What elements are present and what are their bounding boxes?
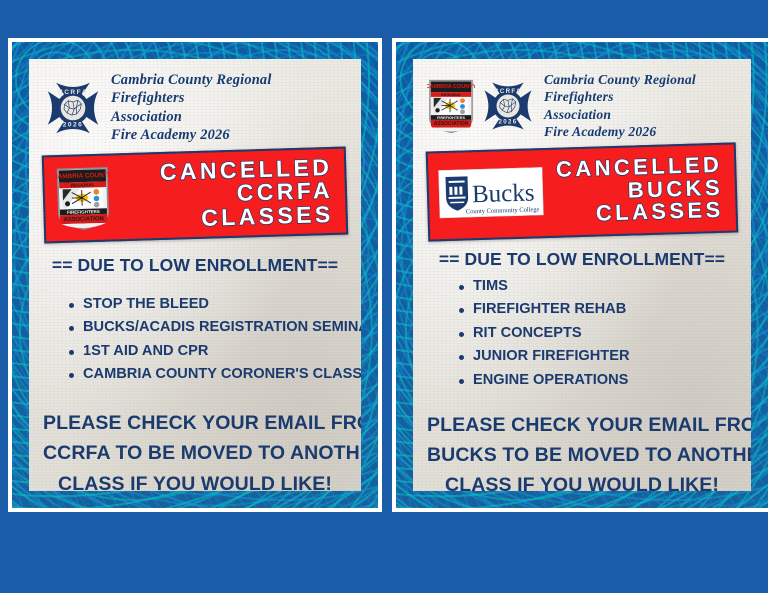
list-item: TIMS bbox=[459, 278, 737, 294]
poster-canvas: CCRFA 2026 Cambria County Regional Firef… bbox=[0, 0, 768, 593]
flyer-bucks: CAMBRIA COUNTY REGIONAL FIREFIGHTERS ASS… bbox=[392, 38, 768, 512]
closing-line-2: BUCKS TO BE MOVED TO ANOTHER bbox=[427, 440, 737, 470]
maltese-top-text: CCRFA bbox=[494, 88, 522, 95]
decorative-blue-paisley-border: CCRFA 2026 Cambria County Regional Firef… bbox=[12, 42, 378, 508]
cambria-county-regional-firefighters-patch: CAMBRIA COUNTY REGIONAL FIREFIGHTERS ASS… bbox=[427, 77, 475, 135]
maltese-top-text: CCRFA bbox=[58, 89, 88, 96]
patch-top-line-2: REGIONAL bbox=[441, 93, 462, 97]
ccrfa-maltese-cross-logo: CCRFA 2026 bbox=[480, 78, 536, 134]
patch-bottom-line-2: ASSOCIATION bbox=[434, 121, 469, 127]
header-logo-group-bucks: CAMBRIA COUNTY REGIONAL FIREFIGHTERS ASS… bbox=[427, 77, 536, 135]
flyer-header-bucks: CAMBRIA COUNTY REGIONAL FIREFIGHTERS ASS… bbox=[427, 71, 737, 141]
bucks-wordmark: Bucks bbox=[472, 178, 535, 207]
list-item: BUCKS/ACADIS REGISTRATION SEMINAR bbox=[69, 319, 347, 335]
banner-line-3: CLASSES bbox=[543, 199, 724, 227]
closing-line-3: CLASS IF YOU WOULD LIKE! bbox=[43, 469, 347, 491]
cancelled-banner-ccrfa: CAMBRIA COUNTY REGIONAL FIREFIGHTERS ASS… bbox=[42, 146, 348, 243]
cancelled-banner-text-bucks: CANCELLED BUCKS CLASSES bbox=[542, 154, 728, 227]
organization-title-block-ccrfa: Cambria County Regional Firefighters Ass… bbox=[111, 71, 347, 145]
maltese-bottom-text: 2026 bbox=[498, 118, 517, 125]
banner-logo-slot-bucks: Bucks County Community College bbox=[438, 166, 544, 222]
organization-title-block-bucks: Cambria County Regional Firefighters Ass… bbox=[544, 71, 737, 141]
patch-bottom-line-1: FIREFIGHTERS bbox=[67, 209, 100, 215]
flyer-ccrfa: CCRFA 2026 Cambria County Regional Firef… bbox=[8, 38, 382, 512]
flyer-paper-ccrfa: CCRFA 2026 Cambria County Regional Firef… bbox=[29, 59, 361, 491]
closing-line-3: CLASS IF YOU WOULD LIKE! bbox=[427, 470, 737, 491]
list-item: 1ST AID AND CPR bbox=[69, 343, 347, 359]
patch-bottom-line-2: ASSOCIATION bbox=[63, 216, 103, 223]
patch-bottom-line-1: FIREFIGHTERS bbox=[437, 116, 466, 120]
header-logo-group-ccrfa: CCRFA 2026 bbox=[43, 78, 103, 138]
org-line-1: Cambria County Regional Firefighters bbox=[111, 71, 347, 108]
flyer-header-ccrfa: CCRFA 2026 Cambria County Regional Firef… bbox=[43, 71, 347, 145]
org-line-3: Fire Academy 2026 bbox=[111, 126, 347, 144]
closing-line-1: PLEASE CHECK YOUR EMAIL FROM bbox=[43, 408, 347, 438]
patch-top-line-2: REGIONAL bbox=[71, 182, 95, 188]
list-item: RIT CONCEPTS bbox=[459, 325, 737, 341]
org-line-3: Fire Academy 2026 bbox=[544, 123, 737, 140]
closing-message-ccrfa: PLEASE CHECK YOUR EMAIL FROM CCRFA TO BE… bbox=[43, 408, 347, 491]
closing-message-bucks: PLEASE CHECK YOUR EMAIL FROM BUCKS TO BE… bbox=[427, 410, 737, 491]
patch-top-line-1: CAMBRIA COUNTY bbox=[54, 171, 112, 180]
bucks-county-community-college-logo: Bucks County Community College bbox=[438, 166, 543, 217]
decorative-blue-paisley-border: CAMBRIA COUNTY REGIONAL FIREFIGHTERS ASS… bbox=[396, 42, 768, 508]
cancelled-banner-bucks: Bucks County Community College CANCELLED… bbox=[426, 142, 739, 241]
list-item: FIREFIGHTER REHAB bbox=[459, 301, 737, 317]
list-item: ENGINE OPERATIONS bbox=[459, 372, 737, 388]
org-line-2: Association bbox=[544, 106, 737, 123]
flyer-paper-bucks: CAMBRIA COUNTY REGIONAL FIREFIGHTERS ASS… bbox=[413, 59, 751, 491]
list-item: CAMBRIA COUNTY CORONER'S CLASS bbox=[69, 366, 347, 382]
cancelled-class-list-bucks: TIMS FIREFIGHTER REHAB RIT CONCEPTS JUNI… bbox=[427, 278, 737, 388]
maltese-bottom-text: 2026 bbox=[63, 121, 83, 128]
cancelled-banner-text-ccrfa: CANCELLED CCRFA CLASSES bbox=[110, 155, 338, 232]
org-line-2: Association bbox=[111, 108, 347, 126]
closing-line-2: CCRFA TO BE MOVED TO ANOTHER bbox=[43, 438, 347, 468]
reason-text-bucks: == DUE TO LOW ENROLLMENT== bbox=[427, 249, 737, 270]
org-line-1: Cambria County Regional Firefighters bbox=[544, 71, 737, 106]
closing-line-1: PLEASE CHECK YOUR EMAIL FROM bbox=[427, 410, 737, 440]
cancelled-class-list-ccrfa: STOP THE BLEED BUCKS/ACADIS REGISTRATION… bbox=[43, 296, 347, 383]
reason-text-ccrfa: == DUE TO LOW ENROLLMENT== bbox=[43, 255, 347, 276]
cambria-county-regional-firefighters-patch: CAMBRIA COUNTY REGIONAL FIREFIGHTERS ASS… bbox=[54, 164, 112, 232]
patch-top-line-1: CAMBRIA COUNTY bbox=[427, 84, 475, 90]
list-item: STOP THE BLEED bbox=[69, 296, 347, 312]
ccrfa-maltese-cross-logo: CCRFA 2026 bbox=[43, 78, 103, 138]
banner-logo-slot-ccrfa: CAMBRIA COUNTY REGIONAL FIREFIGHTERS ASS… bbox=[54, 164, 112, 232]
list-item: JUNIOR FIREFIGHTER bbox=[459, 348, 737, 364]
